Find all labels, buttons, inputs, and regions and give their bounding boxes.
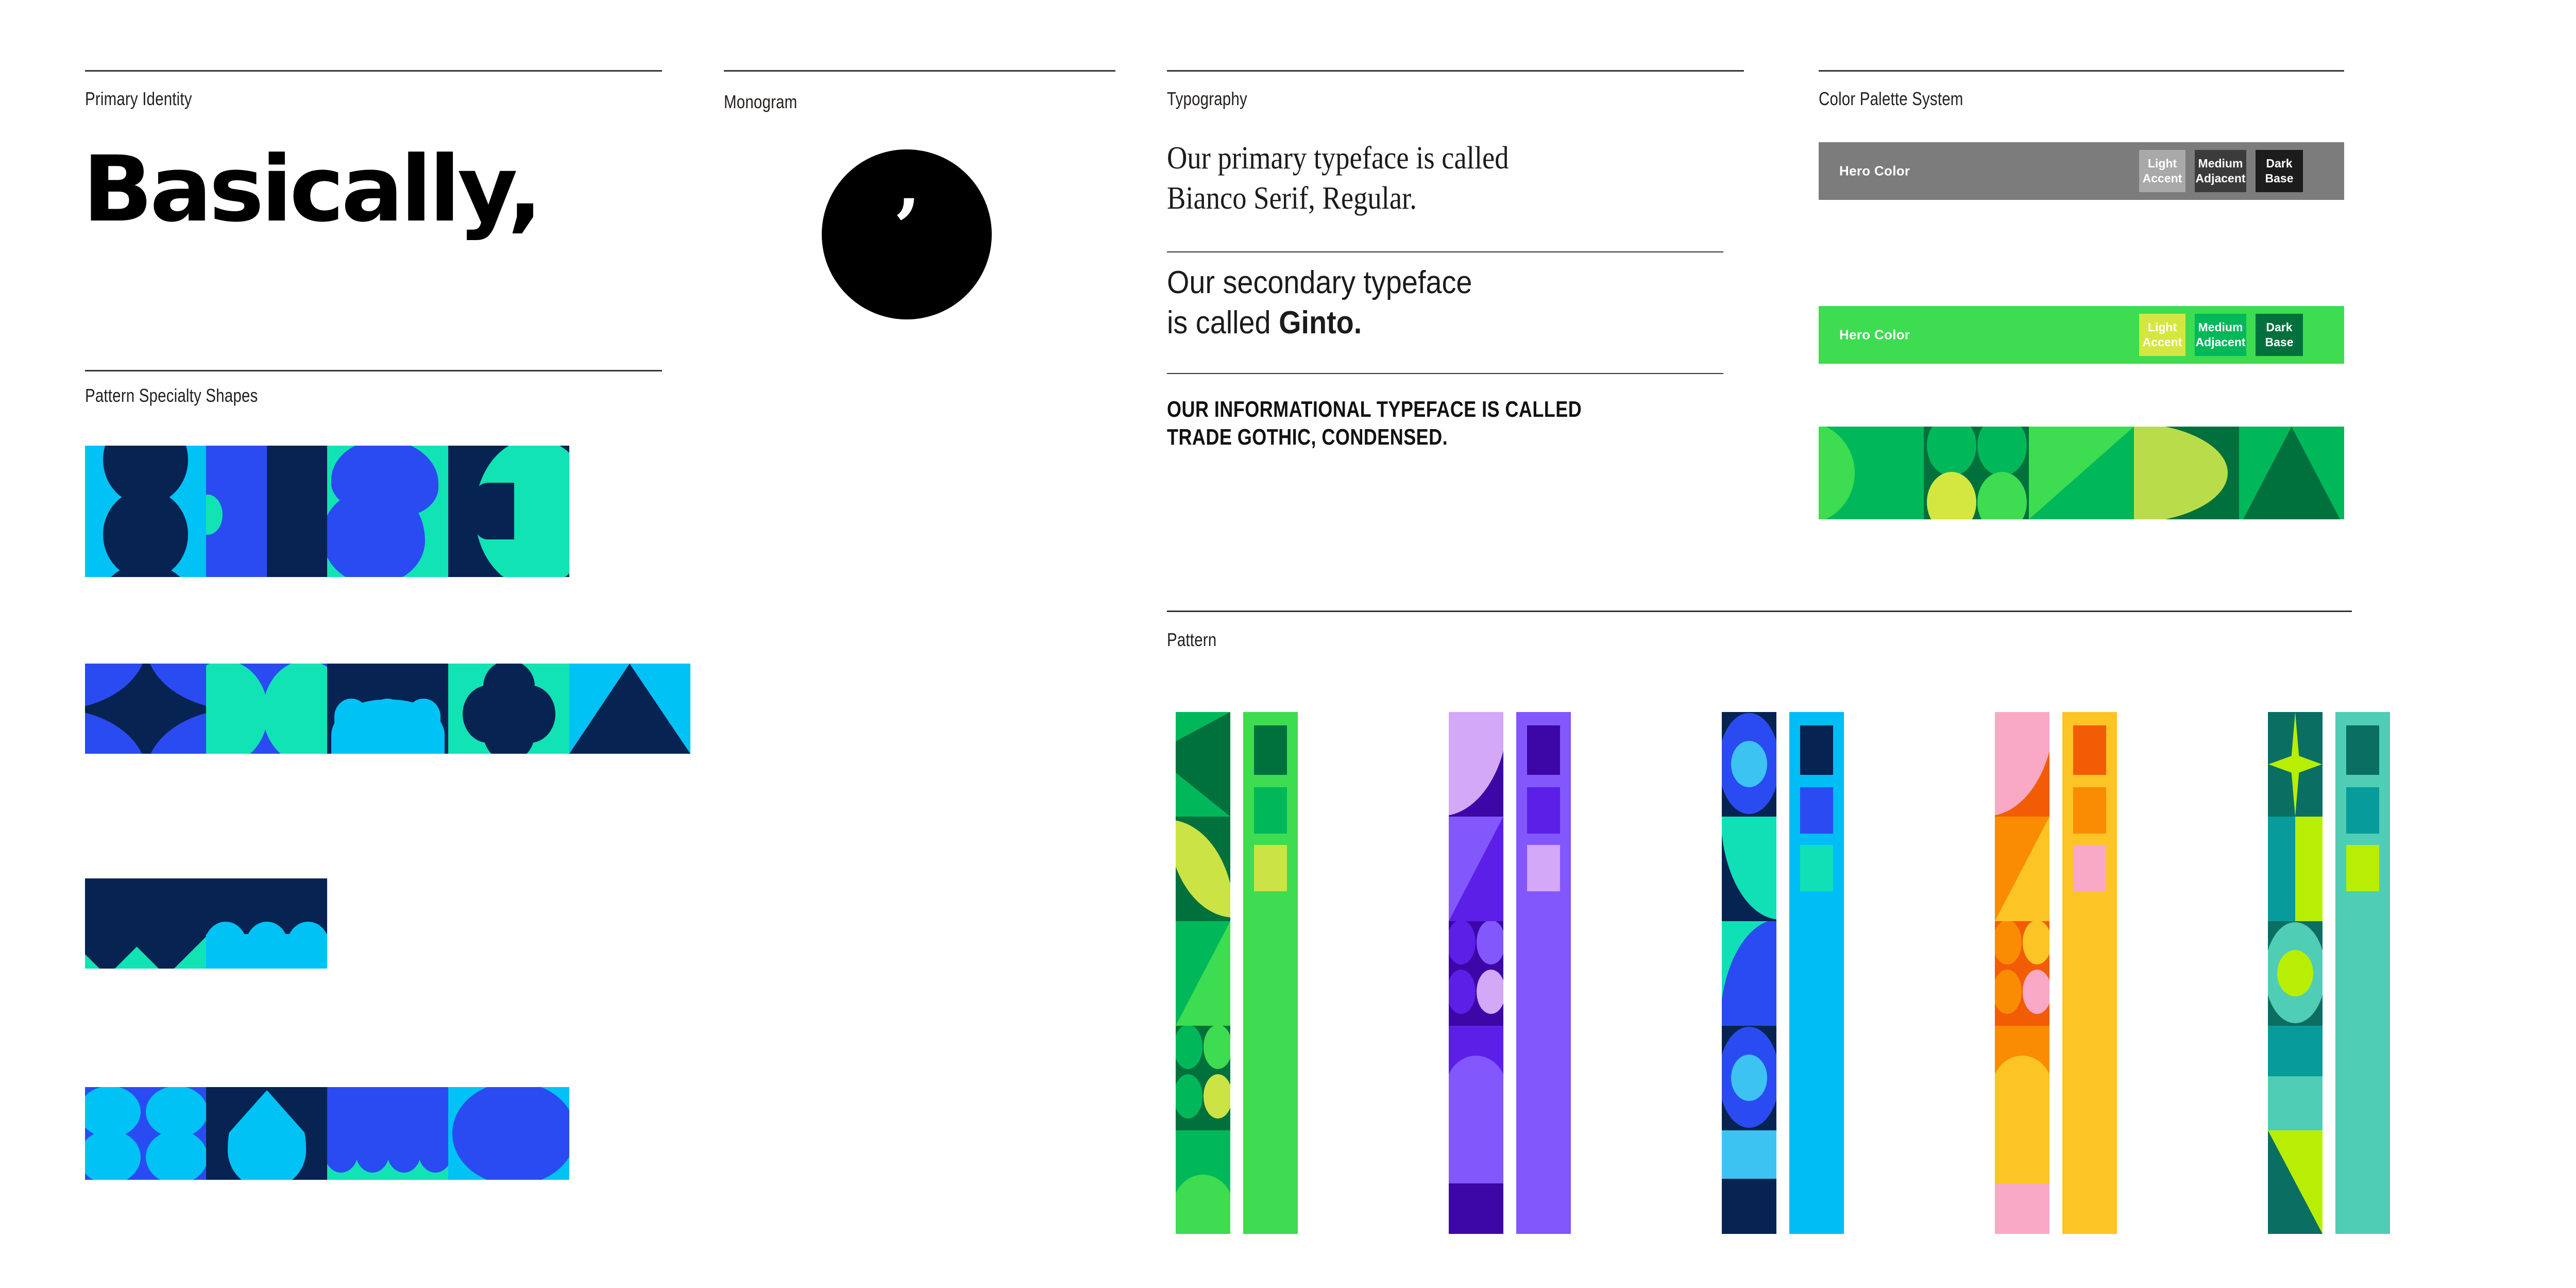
palette-grayscale: Hero Color LightAccent MediumAdjacent Da…	[1819, 142, 2344, 200]
pattern-cell-ring-ellipse-2	[1722, 1026, 1776, 1130]
pattern-cell-band	[1722, 1130, 1776, 1234]
palette-grayscale-hero-label: Hero Color	[1839, 163, 1910, 179]
palette-green-chip-dark: DarkBase	[2256, 314, 2303, 356]
typography-informational-line1: OUR INFORMATIONAL TYPEFACE IS CALLED	[1167, 396, 1716, 423]
divider-typography-secondary	[1167, 251, 1723, 252]
typography-informational-block: OUR INFORMATIONAL TYPEFACE IS CALLED TRA…	[1167, 396, 1716, 451]
tile-blob	[327, 446, 448, 577]
tile-scallop-arch	[327, 664, 448, 754]
divider-monogram	[724, 70, 1115, 72]
chip-label-line1: Medium	[2198, 320, 2243, 334]
typography-secondary-line1: Our secondary typeface	[1167, 263, 1747, 303]
pattern-column-blue-pattern	[1722, 712, 1776, 1234]
pattern-column-teal-pattern	[2268, 712, 2323, 1234]
typography-primary-line1: Our primary typeface is called	[1167, 138, 1734, 178]
tile-lens-stack	[85, 446, 206, 577]
palette-green-hero-label: Hero Color	[1839, 327, 1910, 343]
pattern-cell-leaf	[1176, 817, 1230, 921]
specialty-band-4	[85, 1087, 569, 1180]
pattern-cell-ellipse-grid	[1176, 1026, 1230, 1130]
tile-big-ellipse	[448, 1087, 569, 1180]
specialty-band-2	[85, 664, 690, 754]
pattern-block-light	[1800, 845, 1833, 891]
pattern-block-light	[1254, 845, 1287, 891]
pattern-cell-bands	[2268, 1026, 2323, 1130]
palette-green-chip-light: LightAccent	[2139, 314, 2185, 356]
chip-label-line1: Light	[2148, 157, 2177, 170]
wordmark-basically: Basically,	[82, 144, 539, 235]
chip-label-line2: Accent	[2143, 335, 2182, 349]
palette-grayscale-chip-light: LightAccent	[2139, 150, 2185, 192]
tile-teardrop	[206, 1087, 327, 1180]
pattern-cell-diagonal	[1995, 817, 2049, 921]
chip-label-line2: Adjacent	[2195, 335, 2245, 349]
pattern-cell-diagonal	[2268, 1130, 2323, 1234]
palette-green-pattern-strip	[1819, 427, 2344, 519]
palette-grayscale-chip-dark: DarkBase	[2256, 150, 2303, 192]
section-label-pattern-specialty: Pattern Specialty Shapes	[85, 385, 258, 406]
pattern-column-purple-pattern	[1449, 712, 1503, 1234]
palette-green: Hero Color LightAccent MediumAdjacent Da…	[1819, 306, 2344, 364]
typography-primary-block: Our primary typeface is called Bianco Se…	[1167, 138, 1734, 218]
pattern-cell-half-dome	[1995, 1026, 2049, 1108]
chip-label-line1: Medium	[2198, 157, 2243, 170]
section-label-primary-identity: Primary Identity	[85, 89, 192, 109]
pattern-block-dark	[2346, 725, 2379, 775]
pattern-cell-band	[1995, 1108, 2049, 1234]
tile-green-half-disc	[1819, 427, 1924, 519]
monogram-comma-glyph: ’	[893, 205, 920, 251]
tile-quatrefoil	[448, 664, 569, 754]
pattern-cell-ellipse-grid	[1449, 921, 1503, 1026]
pattern-block-dark	[1254, 725, 1287, 775]
pattern-cell-half-dome	[1176, 1130, 1230, 1234]
tile-ellipse-grid	[85, 1087, 206, 1180]
section-label-monogram: Monogram	[724, 92, 797, 112]
tile-green-leaf	[2134, 427, 2239, 519]
pattern-block-light	[1527, 845, 1560, 891]
chip-label-line2: Accent	[2143, 172, 2182, 185]
pattern-column-orange-pattern	[1995, 712, 2049, 1234]
monogram-mark: ’	[822, 149, 992, 319]
pattern-cell-quarter-leaf	[1995, 712, 2049, 817]
pattern-cell-quarter-disc-2	[1722, 921, 1776, 1026]
tile-half-disc	[206, 446, 327, 577]
pattern-cell-band	[1449, 1108, 1503, 1234]
pattern-column-green-pattern	[1176, 712, 1230, 1234]
chip-label-line1: Light	[2148, 320, 2177, 334]
pattern-cell-triangle-wedge	[1176, 712, 1230, 817]
tile-petal-cross	[85, 664, 206, 754]
pattern-cell-ring-ellipse	[1722, 712, 1776, 817]
monogram-circle: ’	[822, 149, 992, 319]
chip-label-line2: Adjacent	[2195, 172, 2245, 185]
pattern-cell-half-dome	[1449, 1026, 1503, 1108]
pattern-cell-diagonal	[1449, 817, 1503, 921]
pattern-column-blue-blocks	[1789, 712, 1844, 1234]
typography-informational-line2: TRADE GOTHIC, CONDENSED.	[1167, 423, 1716, 451]
chip-label-line1: Dark	[2266, 157, 2292, 170]
divider-typography-informational	[1167, 373, 1723, 374]
palette-grayscale-chip-medium: MediumAdjacent	[2195, 150, 2246, 192]
pattern-block-dark	[1527, 725, 1560, 775]
divider-typography	[1167, 70, 1744, 72]
divider-pattern	[1167, 611, 2352, 612]
tile-scallop-fringe	[327, 1087, 448, 1180]
pattern-block-medium	[2073, 787, 2106, 834]
specialty-band-3	[85, 878, 327, 969]
tile-green-diagonal	[2029, 427, 2134, 519]
pattern-block-light	[2073, 845, 2106, 891]
pattern-cell-diagonal	[1176, 921, 1230, 1026]
pattern-cell-ellipse-grid	[1995, 921, 2049, 1026]
typography-secondary-line2-bold: Ginto.	[1279, 305, 1362, 341]
typography-secondary-line2-plain: is called	[1167, 305, 1279, 341]
pattern-block-medium	[2346, 787, 2379, 834]
tile-tulip	[206, 664, 327, 754]
pattern-column-green-blocks	[1243, 712, 1298, 1234]
chip-label-line2: Base	[2265, 335, 2294, 349]
tile-green-triangle	[2239, 427, 2344, 519]
pattern-cell-quarter-leaf	[1449, 712, 1503, 817]
pattern-block-dark	[2073, 725, 2106, 775]
chip-label-line2: Base	[2265, 172, 2294, 185]
divider-pattern-specialty	[85, 370, 662, 371]
pattern-block-light	[2346, 845, 2379, 891]
pattern-block-medium	[1800, 787, 1833, 834]
section-label-color-palette: Color Palette System	[1819, 89, 1963, 109]
chip-label-line1: Dark	[2266, 320, 2292, 334]
pattern-cell-split-squares	[2268, 817, 2323, 921]
typography-primary-line2: Bianco Serif, Regular.	[1167, 178, 1734, 218]
specialty-band-1	[85, 446, 569, 577]
section-label-typography: Typography	[1167, 89, 1247, 109]
pattern-column-orange-blocks	[2062, 712, 2117, 1234]
tile-triangle	[569, 664, 690, 754]
pattern-column-teal-blocks	[2335, 712, 2390, 1234]
pattern-cell-ring-ellipse	[2268, 921, 2323, 1026]
tile-diamond-grid	[85, 878, 206, 969]
tile-green-ellipse-grid	[1924, 427, 2029, 519]
divider-color-palette	[1819, 70, 2344, 72]
palette-green-chip-medium: MediumAdjacent	[2195, 314, 2246, 356]
pattern-block-medium	[1254, 787, 1287, 834]
divider-primary-identity	[85, 70, 662, 72]
tile-reverse-c	[448, 446, 569, 577]
tile-scallop-wave	[206, 878, 327, 969]
pattern-cell-quarter-disc	[1722, 817, 1776, 921]
pattern-block-dark	[1800, 725, 1833, 775]
pattern-column-purple-blocks	[1516, 712, 1571, 1234]
pattern-cell-four-point-star	[2268, 712, 2323, 817]
section-label-pattern: Pattern	[1167, 630, 1216, 650]
pattern-block-medium	[1527, 787, 1560, 834]
typography-secondary-block: Our secondary typeface is called Ginto.	[1167, 263, 1747, 343]
typography-secondary-line2: is called Ginto.	[1167, 303, 1747, 343]
